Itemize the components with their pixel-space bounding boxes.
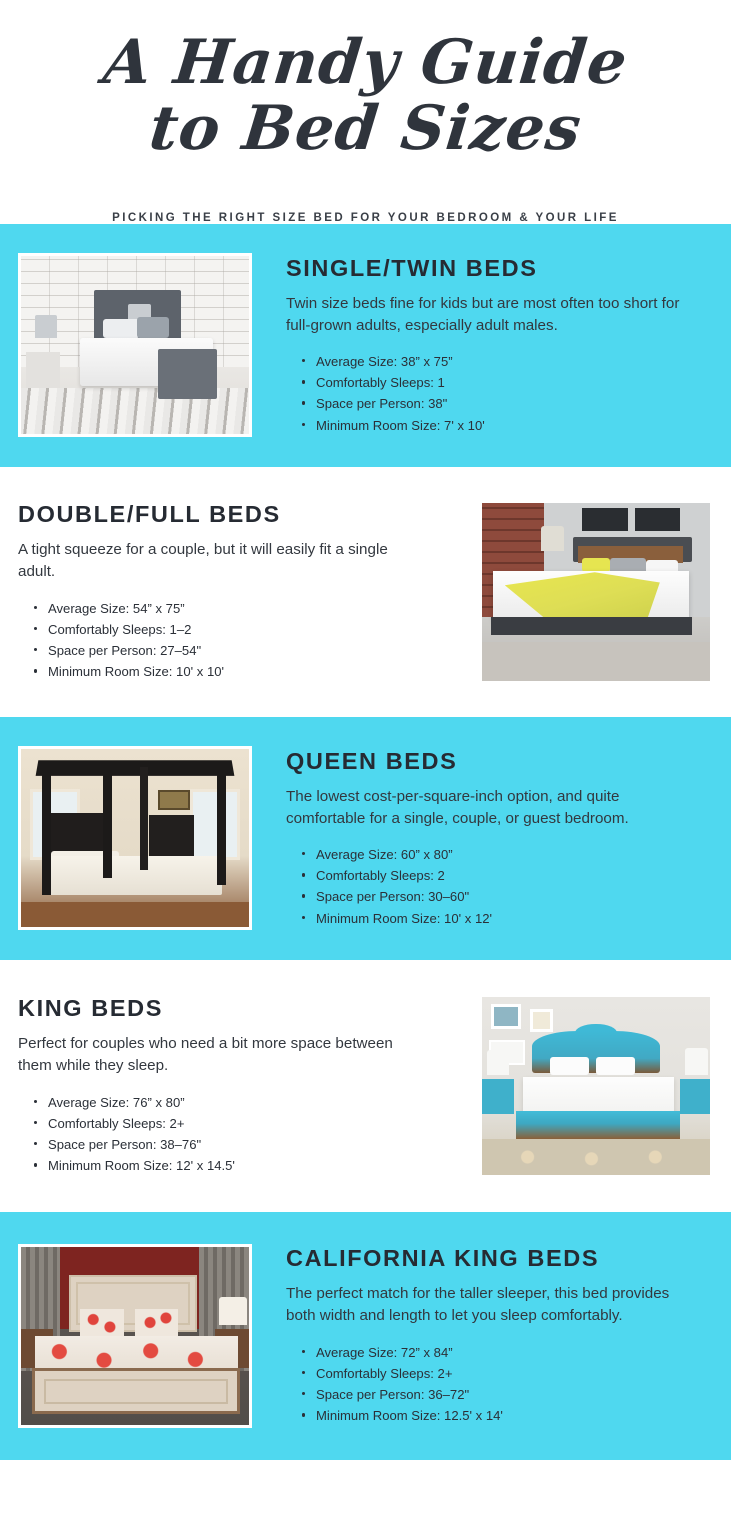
spec-item: Average Size: 72” x 84” xyxy=(302,1342,707,1363)
spec-list-queen: Average Size: 60” x 80” Comfortably Slee… xyxy=(286,844,707,929)
section-description-double-full: A tight squeeze for a couple, but it wil… xyxy=(18,539,418,583)
bedroom-illustration-queen xyxy=(21,749,249,927)
spec-item: Space per Person: 27–54" xyxy=(34,640,453,661)
copy-queen: QUEEN BEDS The lowest cost-per-square-in… xyxy=(286,744,731,933)
section-description-california-king: The perfect match for the taller sleeper… xyxy=(286,1283,686,1327)
spec-item: Minimum Room Size: 10' x 10' xyxy=(34,661,453,682)
thumbnail-wrap-king xyxy=(479,994,731,1178)
bed-photo-king xyxy=(479,994,713,1178)
spec-item: Space per Person: 36–72" xyxy=(302,1384,707,1405)
section-king: KING BEDS Perfect for couples who need a… xyxy=(0,960,731,1212)
section-california-king: CALIFORNIA KING BEDS The perfect match f… xyxy=(0,1212,731,1460)
spec-item: Minimum Room Size: 12.5' x 14' xyxy=(302,1405,707,1426)
spec-item: Space per Person: 38–76" xyxy=(34,1134,453,1155)
title-line-2: to Bed Sizes xyxy=(27,100,704,158)
thumbnail-wrap-single-twin xyxy=(0,253,286,437)
title-line-1: A Handy Guide xyxy=(27,34,704,92)
spec-item: Comfortably Sleeps: 1 xyxy=(302,372,707,393)
copy-california-king: CALIFORNIA KING BEDS The perfect match f… xyxy=(286,1241,731,1430)
page-title: A Handy Guide to Bed Sizes xyxy=(30,28,701,158)
section-queen: QUEEN BEDS The lowest cost-per-square-in… xyxy=(0,717,731,960)
spec-item: Average Size: 54” x 75” xyxy=(34,598,453,619)
section-double-full: DOUBLE/FULL BEDS A tight squeeze for a c… xyxy=(0,467,731,717)
bedroom-illustration-king xyxy=(482,997,710,1175)
spec-item: Average Size: 76” x 80” xyxy=(34,1092,453,1113)
bed-photo-queen xyxy=(18,746,252,930)
spec-item: Comfortably Sleeps: 2 xyxy=(302,865,707,886)
bed-photo-single-twin xyxy=(18,253,252,437)
spec-item: Minimum Room Size: 7' x 10' xyxy=(302,415,707,436)
section-description-king: Perfect for couples who need a bit more … xyxy=(18,1033,418,1077)
copy-single-twin: SINGLE/TWIN BEDS Twin size beds fine for… xyxy=(286,251,731,440)
spec-item: Average Size: 60” x 80” xyxy=(302,844,707,865)
spec-list-california-king: Average Size: 72” x 84” Comfortably Slee… xyxy=(286,1342,707,1427)
spec-item: Comfortably Sleeps: 2+ xyxy=(302,1363,707,1384)
thumbnail-wrap-queen xyxy=(0,746,286,930)
spec-item: Average Size: 38” x 75” xyxy=(302,351,707,372)
spec-list-king: Average Size: 76” x 80” Comfortably Slee… xyxy=(18,1092,453,1177)
section-description-queen: The lowest cost-per-square-inch option, … xyxy=(286,786,686,830)
header: A Handy Guide to Bed Sizes PICKING THE R… xyxy=(0,0,731,224)
bed-photo-double-full xyxy=(479,500,713,684)
spec-item: Space per Person: 30–60" xyxy=(302,886,707,907)
spec-item: Comfortably Sleeps: 2+ xyxy=(34,1113,453,1134)
section-heading-queen: QUEEN BEDS xyxy=(286,748,707,775)
page-bottom-padding xyxy=(0,1460,731,1478)
bedroom-illustration-single-twin xyxy=(21,256,249,434)
spec-item: Minimum Room Size: 10' x 12' xyxy=(302,908,707,929)
bedroom-illustration-california-king xyxy=(21,1247,249,1425)
section-heading-king: KING BEDS xyxy=(18,995,453,1022)
bed-photo-california-king xyxy=(18,1244,252,1428)
spec-list-single-twin: Average Size: 38” x 75” Comfortably Slee… xyxy=(286,351,707,436)
bedroom-illustration-double-full xyxy=(482,503,710,681)
thumbnail-wrap-california-king xyxy=(0,1244,286,1428)
section-single-twin: SINGLE/TWIN BEDS Twin size beds fine for… xyxy=(0,224,731,467)
section-heading-single-twin: SINGLE/TWIN BEDS xyxy=(286,255,707,282)
spec-list-double-full: Average Size: 54” x 75” Comfortably Slee… xyxy=(18,598,453,683)
spec-item: Space per Person: 38" xyxy=(302,393,707,414)
copy-king: KING BEDS Perfect for couples who need a… xyxy=(0,991,479,1180)
thumbnail-wrap-double-full xyxy=(479,500,731,684)
page-subtitle: PICKING THE RIGHT SIZE BED FOR YOUR BEDR… xyxy=(30,212,701,224)
infographic-page: A Handy Guide to Bed Sizes PICKING THE R… xyxy=(0,0,731,1536)
copy-double-full: DOUBLE/FULL BEDS A tight squeeze for a c… xyxy=(0,497,479,686)
section-heading-california-king: CALIFORNIA KING BEDS xyxy=(286,1245,707,1272)
spec-item: Comfortably Sleeps: 1–2 xyxy=(34,619,453,640)
section-heading-double-full: DOUBLE/FULL BEDS xyxy=(18,501,453,528)
spec-item: Minimum Room Size: 12' x 14.5' xyxy=(34,1155,453,1176)
section-description-single-twin: Twin size beds fine for kids but are mos… xyxy=(286,293,686,337)
